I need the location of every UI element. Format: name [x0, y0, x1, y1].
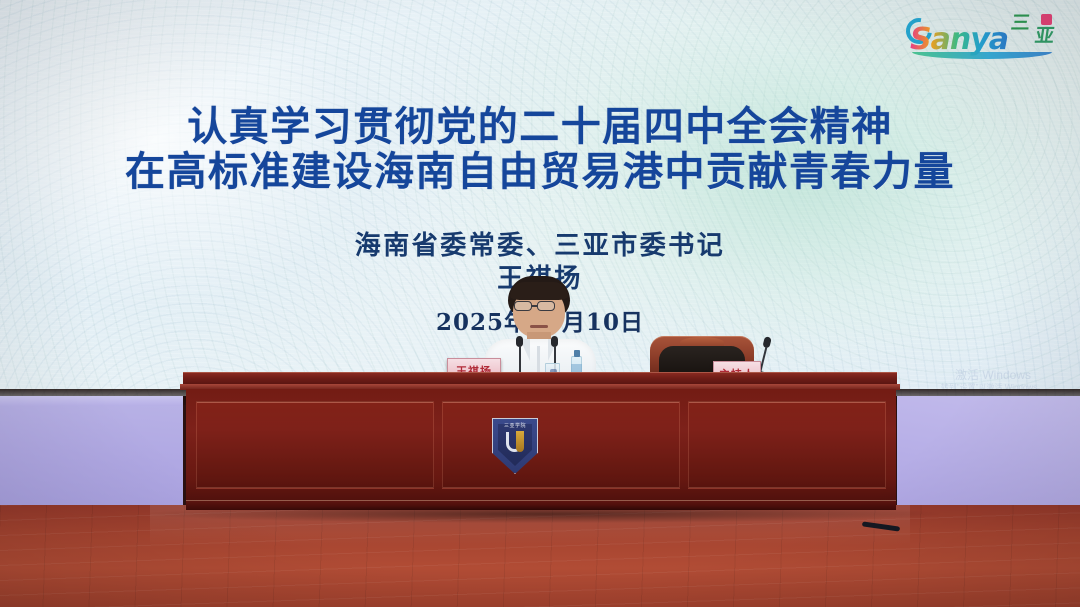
slide-speaker-title: 海南省委常委、三亚市委书记 — [0, 225, 1080, 262]
sanya-underline-swoosh — [912, 52, 1052, 60]
podium-ground-shadow — [150, 505, 940, 523]
bottle-cap — [574, 350, 580, 357]
sanya-logo: Sanya 三 亚 — [908, 8, 1058, 64]
podium-panel — [688, 401, 886, 489]
emblem-chinese-text: 三亚学院 — [500, 423, 530, 430]
eyeglasses-left-lens — [514, 301, 532, 311]
university-of-sanya-emblem: 三亚学院 — [492, 418, 538, 474]
microphone-stem — [519, 346, 521, 374]
eyeglasses-right-lens — [537, 301, 555, 311]
wall-left-highlight — [0, 396, 183, 406]
speaker-hair-fringe — [510, 282, 568, 300]
sanya-dot-icon — [1041, 14, 1052, 25]
sanya-char-san: 三 — [1010, 14, 1032, 33]
podium-panel — [196, 401, 434, 489]
presentation-scene: 认真学习贯彻党的二十届四中全会精神 在高标准建设海南自由贸易港中贡献青春力量 海… — [0, 0, 1080, 607]
slide-headline-line-2: 在高标准建设海南自由贸易港中贡献青春力量 — [0, 139, 1080, 197]
podium-panel — [442, 401, 680, 489]
eyeglasses-bridge — [532, 305, 537, 307]
sanya-chinese-characters: 三 亚 — [992, 12, 1054, 56]
sanya-char-ya: 亚 — [1034, 27, 1056, 46]
podium-front-body — [186, 389, 896, 504]
emblem-gold-mark — [516, 431, 524, 452]
speaker-mouth — [530, 325, 548, 328]
